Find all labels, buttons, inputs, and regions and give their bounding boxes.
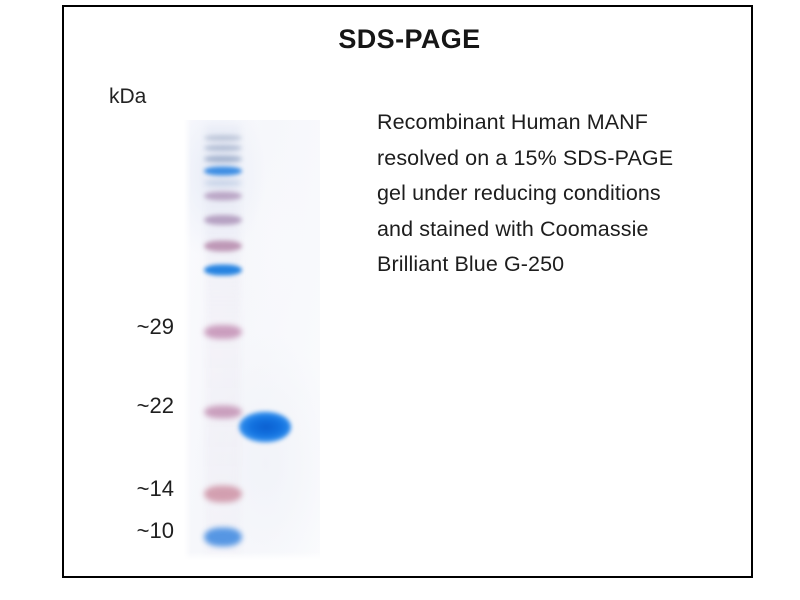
gel-band-ladder [204,192,242,201]
gel-band-ladder [204,156,242,163]
gel-band-ladder [204,265,242,276]
gel-band-ladder [204,167,242,176]
gel-band-ladder [204,486,242,503]
mw-marker-label: ~10 [137,518,174,544]
figure-frame: SDS-PAGE kDa ~29~22~14~10 Recombinant Hu… [62,5,753,578]
gel-image [184,120,320,561]
gel-band-ladder [204,241,242,252]
gel-band-ladder [204,406,242,419]
gel-band-ladder [204,215,242,225]
mw-marker-label: ~14 [137,476,174,502]
mw-marker-label: ~29 [137,314,174,340]
molecular-weight-label-column: ~29~22~14~10 [64,7,184,580]
mw-marker-label: ~22 [137,393,174,419]
gel-lane-ladder [204,120,242,561]
sds-page-figure: SDS-PAGE kDa ~29~22~14~10 Recombinant Hu… [0,0,800,600]
gel-edge-bottom [184,552,320,561]
gel-band-ladder [204,135,242,141]
gel-band-ladder [204,145,242,151]
gel-band-sample-manf [239,412,291,443]
gel-edge-left [184,120,191,561]
gel-band-ladder [204,180,242,186]
gel-lane-sample [250,120,312,561]
gel-band-ladder [204,528,242,547]
gel-band-ladder [204,325,242,339]
figure-description: Recombinant Human MANF resolved on a 15%… [377,105,687,283]
